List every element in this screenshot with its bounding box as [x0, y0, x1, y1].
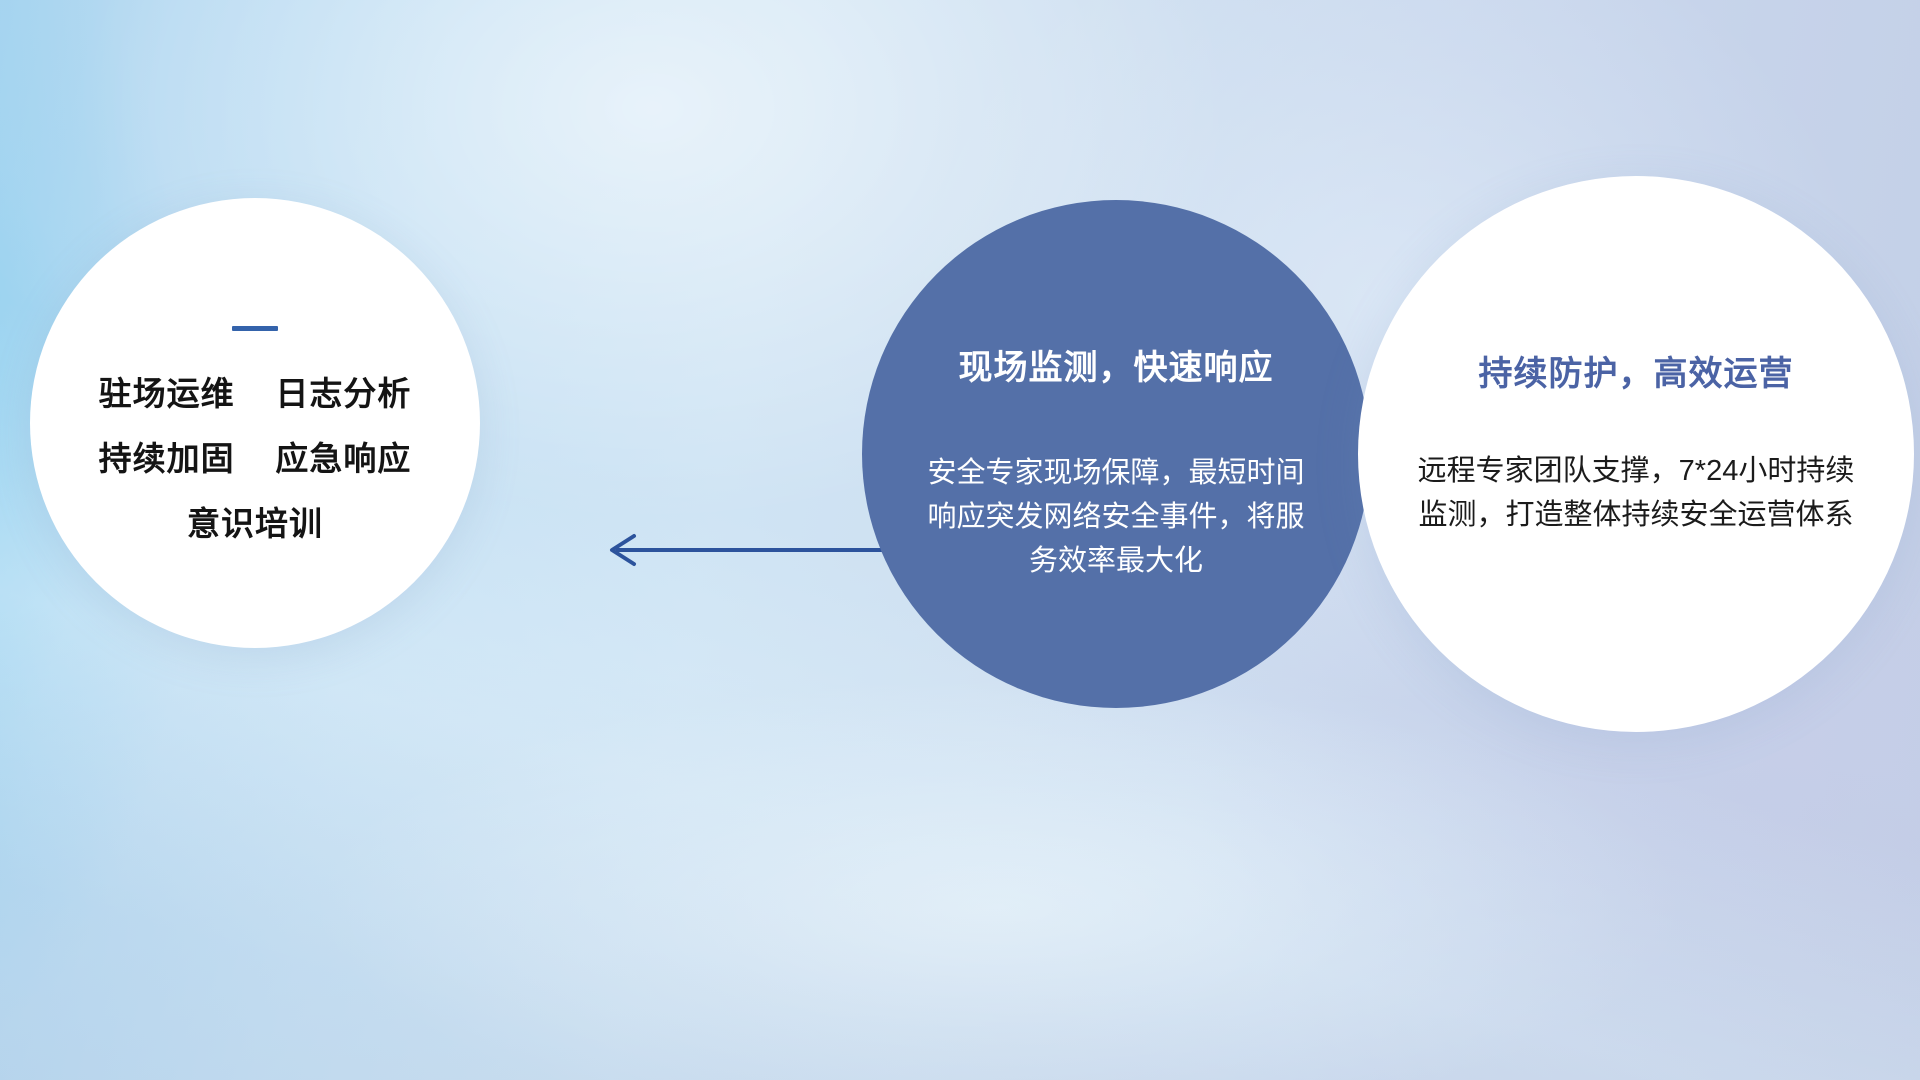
capability-circle-middle[interactable]: 现场监测，快速响应 安全专家现场保障，最短时间响应突发网络安全事件，将服务效率最…: [862, 200, 1370, 708]
middle-circle-title: 现场监测，快速响应: [916, 340, 1316, 389]
left-circle-line-1: 驻场运维 日志分析: [30, 377, 480, 410]
slide-canvas: 驻场运维 日志分析 持续加固 应急响应 意识培训 现场监测，快速响应 安全专家现…: [0, 0, 1920, 1080]
capability-circle-right[interactable]: 持续防护，高效运营 远程专家团队支撑，7*24小时持续监测，打造整体持续安全运营…: [1358, 176, 1914, 732]
connector-arrow-left: [600, 520, 900, 580]
left-circle-line-2: 持续加固 应急响应: [30, 442, 480, 475]
accent-dash-divider: [232, 326, 278, 331]
right-circle-body: 远程专家团队支撑，7*24小时持续监测，打造整体持续安全运营体系: [1404, 449, 1868, 537]
left-circle-line-3: 意识培训: [30, 507, 480, 540]
left-circle-content: 驻场运维 日志分析 持续加固 应急响应 意识培训: [30, 326, 480, 540]
middle-circle-body: 安全专家现场保障，最短时间响应突发网络安全事件，将服务效率最大化: [916, 451, 1316, 583]
right-circle-title: 持续防护，高效运营: [1404, 346, 1868, 395]
middle-circle-content: 现场监测，快速响应 安全专家现场保障，最短时间响应突发网络安全事件，将服务效率最…: [862, 340, 1370, 583]
capability-circle-left[interactable]: 驻场运维 日志分析 持续加固 应急响应 意识培训: [30, 198, 480, 648]
right-circle-content: 持续防护，高效运营 远程专家团队支撑，7*24小时持续监测，打造整体持续安全运营…: [1358, 346, 1914, 537]
